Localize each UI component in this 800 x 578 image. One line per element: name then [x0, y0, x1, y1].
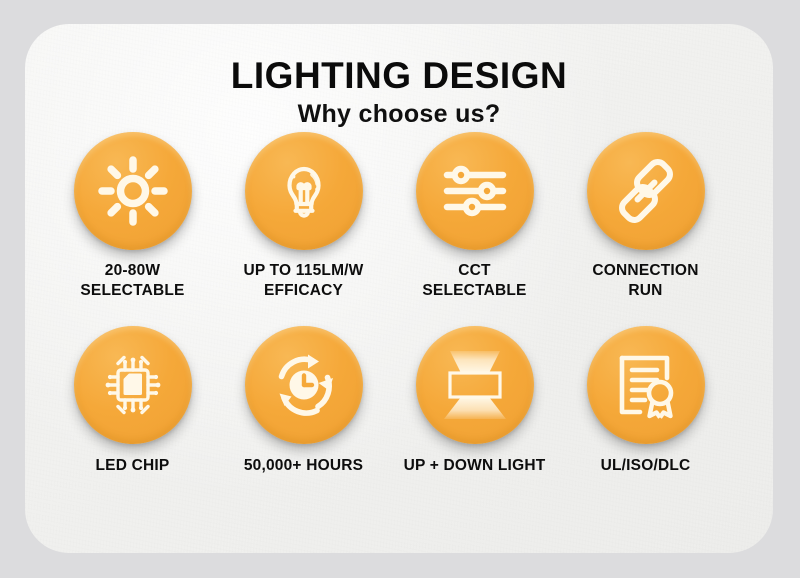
feature-badge	[245, 132, 363, 250]
feature-item-up-down-light[interactable]: UP + DOWN LIGHT	[389, 326, 560, 476]
feature-badge	[416, 326, 534, 444]
feature-card: LIGHTING DESIGN Why choose us?	[25, 24, 773, 553]
light-bulb-icon	[268, 155, 340, 227]
feature-badge	[587, 132, 705, 250]
page-title: LIGHTING DESIGN	[25, 57, 773, 94]
feature-item-cct[interactable]: CCT SELECTABLE	[389, 132, 560, 301]
feature-item-led-chip[interactable]: LED CHIP	[47, 326, 218, 476]
feature-label: LED CHIP	[96, 456, 170, 476]
feature-item-connection[interactable]: CONNECTION RUN	[560, 132, 731, 301]
feature-grid: 20-80W SELECTABLE	[25, 132, 773, 475]
poster-stage: LIGHTING DESIGN Why choose us?	[0, 0, 800, 578]
feature-item-lifespan[interactable]: 50,000+ HOURS	[218, 326, 389, 476]
feature-item-efficacy[interactable]: UP TO 115LM/W EFFICACY	[218, 132, 389, 301]
feature-label: CCT SELECTABLE	[422, 261, 526, 301]
feature-badge	[74, 326, 192, 444]
card-content: LIGHTING DESIGN Why choose us?	[25, 24, 773, 553]
feature-label: UP + DOWN LIGHT	[404, 456, 546, 476]
feature-badge	[587, 326, 705, 444]
feature-label: UP TO 115LM/W EFFICACY	[243, 261, 363, 301]
microchip-icon	[96, 348, 170, 422]
up-down-light-icon	[436, 348, 514, 422]
sun-brightness-icon	[97, 155, 169, 227]
page-subtitle: Why choose us?	[25, 102, 773, 127]
feature-item-certifications[interactable]: UL/ISO/DLC	[560, 326, 731, 476]
sliders-settings-icon	[439, 155, 511, 227]
feature-label: 20-80W SELECTABLE	[80, 261, 184, 301]
feature-label: UL/ISO/DLC	[601, 456, 691, 476]
feature-label: CONNECTION RUN	[592, 261, 698, 301]
feature-badge	[416, 132, 534, 250]
feature-badge	[245, 326, 363, 444]
feature-row-2: LED CHIP	[25, 326, 773, 476]
clock-recycle-icon	[267, 348, 341, 422]
feature-label: 50,000+ HOURS	[244, 456, 363, 476]
feature-badge	[74, 132, 192, 250]
feature-row-1: 20-80W SELECTABLE	[25, 132, 773, 301]
chain-link-icon	[610, 155, 682, 227]
certificate-award-icon	[609, 348, 683, 422]
feature-item-wattage[interactable]: 20-80W SELECTABLE	[47, 132, 218, 301]
